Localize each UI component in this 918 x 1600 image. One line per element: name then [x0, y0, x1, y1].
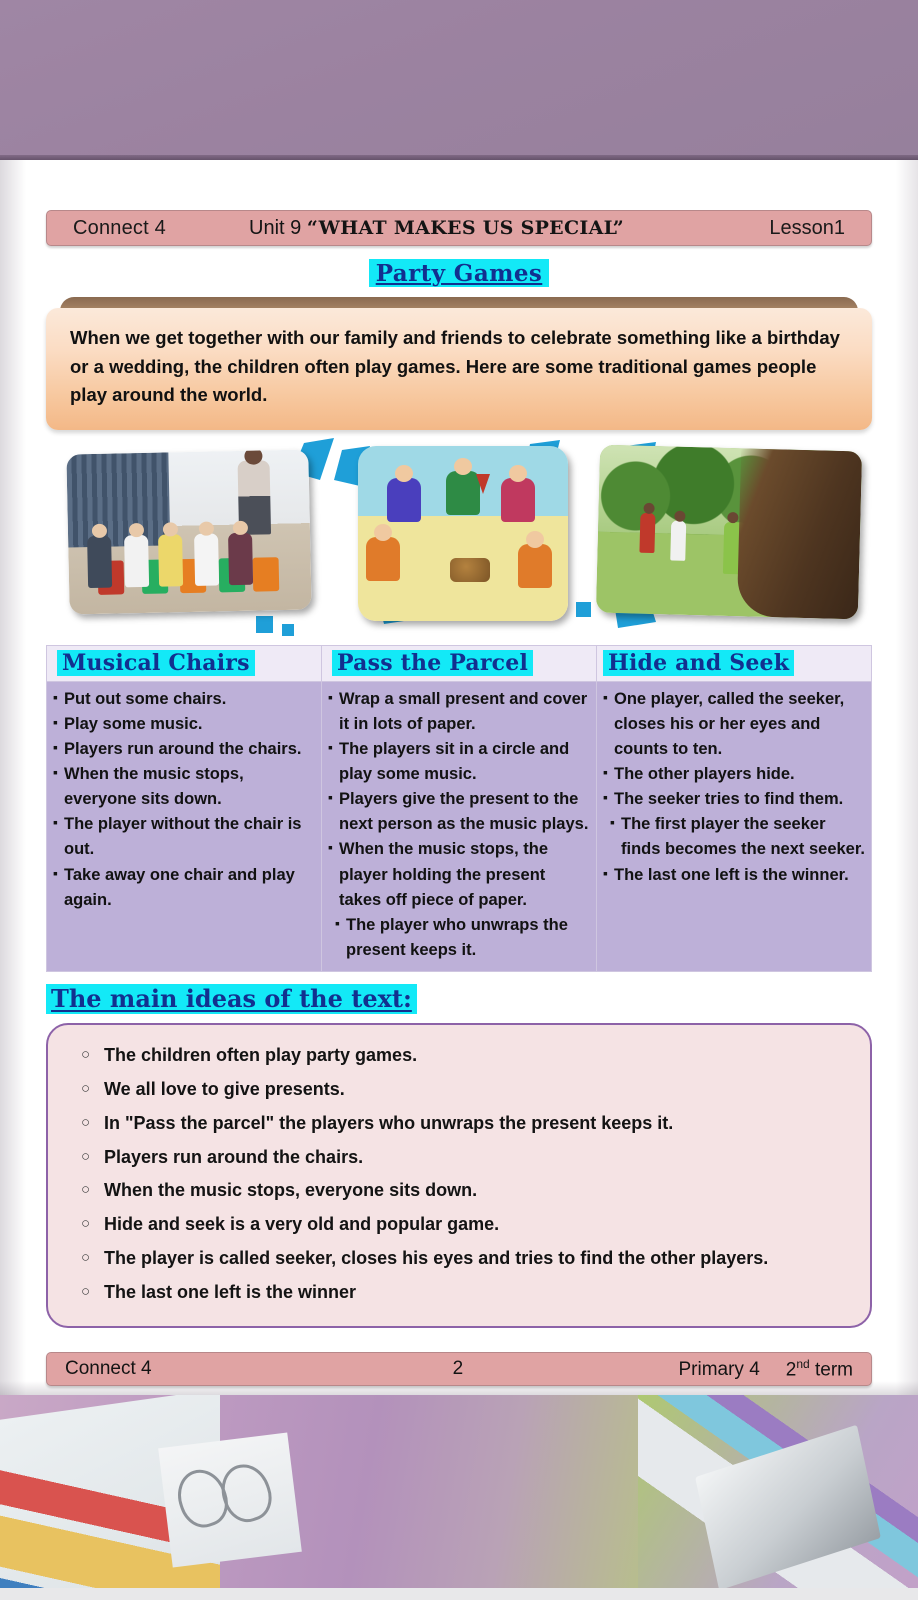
header-book-label: Connect 4: [73, 217, 166, 240]
list-item: In "Pass the parcel" the players who unw…: [70, 1107, 848, 1141]
list-item: Players run around the chairs.: [53, 737, 315, 762]
list-item: The seeker tries to find them.: [603, 787, 865, 812]
list-item: The other players hide.: [603, 762, 865, 787]
main-ideas-box: The children often play party games. We …: [46, 1023, 872, 1328]
intro-box-shell: When we get together with our family and…: [46, 297, 872, 430]
games-column-header-musical-chairs: Musical Chairs: [47, 646, 322, 682]
intro-box: When we get together with our family and…: [46, 308, 872, 430]
bottom-strip: [0, 1588, 918, 1600]
pass-the-parcel-photo: [358, 446, 568, 621]
list-item: Play some music.: [53, 712, 315, 737]
games-column-header-pass-the-parcel: Pass the Parcel: [322, 646, 597, 682]
page-title: Party Games: [369, 259, 550, 287]
games-table-header-row: Musical Chairs Pass the Parcel Hide and …: [47, 646, 872, 682]
list-item: The first player the seeker finds become…: [603, 812, 865, 862]
footer-term-word: term: [815, 1359, 853, 1380]
header-unit-name: “WHAT MAKES US SPECIAL”: [307, 217, 624, 239]
list-item: When the music stops, everyone sits down…: [53, 762, 315, 812]
list-item: When the music stops, the player holding…: [328, 837, 590, 912]
footer-grade: Primary 4: [678, 1359, 759, 1381]
list-item: The last one left is the winner.: [603, 863, 865, 888]
list-item: The children often play party games.: [70, 1039, 848, 1073]
bottom-decorative-band: [0, 1395, 918, 1600]
list-item: We all love to give presents.: [70, 1073, 848, 1107]
games-cell-hide-and-seek: One player, called the seeker, closes hi…: [597, 682, 872, 972]
list-item: The player who unwraps the present keeps…: [328, 913, 590, 963]
page-content: Connect 4 Unit 9 “WHAT MAKES US SPECIAL”…: [0, 210, 918, 1386]
worksheet-footer-bar: Connect 4 2 Primary 4 2nd term: [46, 1352, 872, 1386]
footer-term: 2nd term: [786, 1357, 853, 1381]
musical-chairs-photo: [66, 449, 311, 614]
top-decorative-band: [0, 0, 918, 160]
page-title-row: Party Games: [46, 259, 872, 287]
main-ideas-heading: The main ideas of the text:: [46, 984, 417, 1014]
worksheet-header-bar: Connect 4 Unit 9 “WHAT MAKES US SPECIAL”…: [46, 210, 872, 246]
intro-paragraph: When we get together with our family and…: [70, 324, 848, 410]
worksheet-page: Connect 4 Unit 9 “WHAT MAKES US SPECIAL”…: [0, 160, 918, 1395]
list-item: Take away one chair and play again.: [53, 863, 315, 913]
list-item: When the music stops, everyone sits down…: [70, 1174, 848, 1208]
list-item: Players run around the chairs.: [70, 1141, 848, 1175]
games-table-body-row: Put out some chairs. Play some music. Pl…: [47, 682, 872, 972]
glasses-decoration: [158, 1433, 302, 1568]
photo-row: [46, 446, 872, 641]
list-item: Wrap a small present and cover it in lot…: [328, 687, 590, 737]
main-ideas-heading-row: The main ideas of the text:: [46, 972, 872, 1014]
list-item: The player without the chair is out.: [53, 812, 315, 862]
list-item: Players give the present to the next per…: [328, 787, 590, 837]
footer-book-label: Connect 4: [65, 1358, 152, 1380]
header-unit-title: Unit 9 “WHAT MAKES US SPECIAL”: [249, 217, 624, 240]
header-unit-prefix: Unit 9: [249, 217, 301, 239]
header-lesson-label: Lesson1: [769, 217, 845, 240]
footer-page-number: 2: [453, 1358, 464, 1380]
list-item: Hide and seek is a very old and popular …: [70, 1208, 848, 1242]
games-cell-pass-the-parcel: Wrap a small present and cover it in lot…: [322, 682, 597, 972]
footer-term-ordinal: nd: [796, 1357, 809, 1371]
list-item: Put out some chairs.: [53, 687, 315, 712]
list-item: The players sit in a circle and play som…: [328, 737, 590, 787]
games-table: Musical Chairs Pass the Parcel Hide and …: [46, 645, 872, 972]
footer-term-number: 2: [786, 1359, 797, 1380]
hide-and-seek-photo: [596, 445, 862, 620]
list-item: The player is called seeker, closes his …: [70, 1242, 848, 1276]
list-item: One player, called the seeker, closes hi…: [603, 687, 865, 762]
list-item: The last one left is the winner: [70, 1276, 848, 1310]
games-cell-musical-chairs: Put out some chairs. Play some music. Pl…: [47, 682, 322, 972]
games-column-header-hide-and-seek: Hide and Seek: [597, 646, 872, 682]
footer-right-group: Primary 4 2nd term: [678, 1357, 853, 1381]
